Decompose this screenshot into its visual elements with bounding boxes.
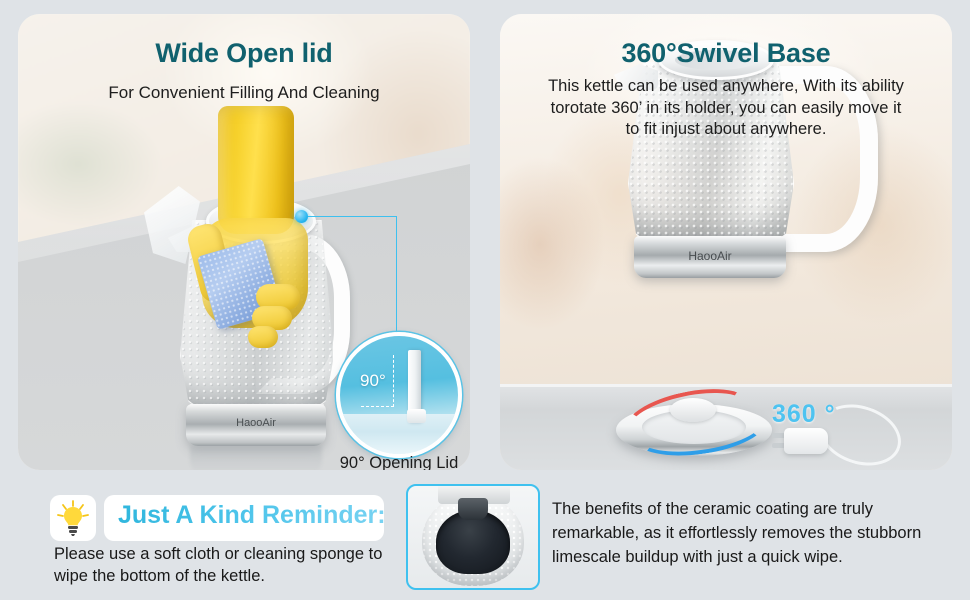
callout-leader-horizontal [301,216,397,217]
panel-wide-open-lid: HaooAir 90° 90° Opening Lid [18,14,470,470]
kettle-base-right: HaooAir [634,236,786,278]
callout-anchor-dot [295,210,308,223]
lightbulb-icon [50,495,96,541]
angle-callout-caption: 90° Opening Lid [314,454,470,470]
kettle-brand-label-left: HaooAir [186,417,326,429]
callout-leader-vertical [396,216,397,338]
ceramic-coating-photo [406,484,540,590]
ceramic-coating-text: The benefits of the ceramic coating are … [552,497,952,569]
callout-dashed-vertical [393,355,394,407]
callout-dashed-horizontal [361,406,394,407]
reminder-body-text: Please use a soft cloth or cleaning spon… [54,543,404,587]
swivel-power-base [616,392,772,458]
callout-floor [336,414,462,454]
panel-swivel-base: HaooAir 360 ° 360°Swivel Base This kettl… [500,14,952,470]
callout-angle-label: 90° [360,371,386,391]
glove-finger [248,326,278,348]
kettle-neck-closeup [458,498,488,520]
reminder-title: Just A Kind Reminder: [118,501,386,530]
kettle-base-left: HaooAir [186,404,326,446]
panel-title-right: 360°Swivel Base [500,38,952,69]
swivel-360-label: 360 ° [772,400,836,429]
panel-subtitle-right: This kettle can be used anywhere, With i… [522,76,930,141]
panel-subtitle-left: For Convenient Filling And Cleaning [18,82,470,103]
lightbulb-icon-backdrop [50,495,96,541]
panel-title-left: Wide Open lid [18,38,470,69]
kettle-brand-label-right: HaooAir [634,249,786,263]
angle-callout-circle: 90° [336,332,462,458]
glove-arm [218,106,294,234]
infographic-page: HaooAir 90° 90° Opening Lid [0,0,970,600]
callout-hinge [407,409,426,423]
kettle-reflection-left [190,446,322,470]
power-plug [770,424,828,458]
plug-body [784,428,828,454]
